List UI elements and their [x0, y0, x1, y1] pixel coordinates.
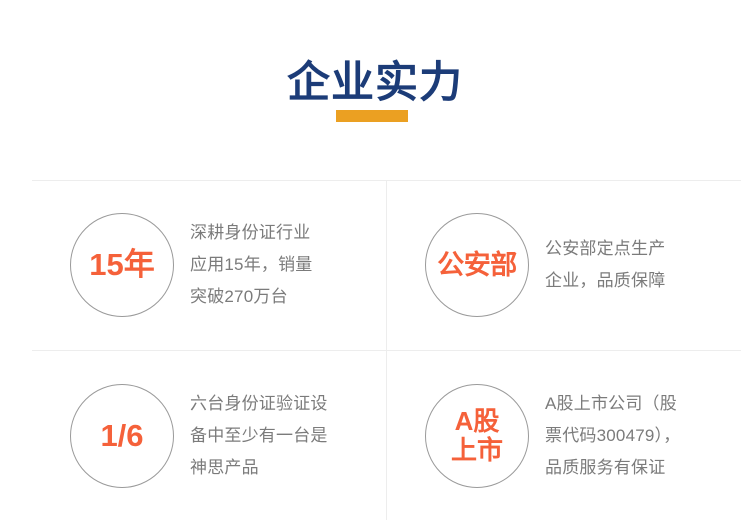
badge-circle-0: 15年 — [70, 213, 174, 317]
strength-grid: 15年 深耕身份证行业 应用15年，销量 突破270万台 公安部 公安部定点生产… — [32, 180, 741, 520]
badge-label-0: 15年 — [89, 249, 154, 282]
strength-card-0: 15年 深耕身份证行业 应用15年，销量 突破270万台 — [32, 180, 386, 350]
page-title-text: 企业实力 — [287, 58, 463, 108]
page-title: 企业实力 — [0, 62, 750, 124]
title-underline-bar — [336, 110, 408, 122]
strength-card-1: 公安部 公安部定点生产 企业，品质保障 — [387, 180, 741, 350]
page-title-inner: 企业实力 — [287, 62, 463, 105]
enterprise-strength-page: { "page": { "title": "企业实力", "title_colo… — [0, 0, 750, 516]
badge-circle-3: A股 上市 — [425, 384, 529, 488]
badge-label-2: 1/6 — [100, 420, 143, 453]
badge-label-3: A股 上市 — [451, 407, 503, 465]
badge-circle-2: 1/6 — [70, 384, 174, 488]
strength-card-2: 1/6 六台身份证验证设 备中至少有一台是 神思产品 — [32, 351, 386, 521]
badge-circle-1: 公安部 — [425, 213, 529, 317]
card-description-2: 六台身份证验证设 备中至少有一台是 神思产品 — [190, 388, 378, 484]
card-description-3: A股上市公司（股 票代码300479）， 品质服务有保证 — [545, 388, 733, 484]
card-description-1: 公安部定点生产 企业，品质保障 — [545, 233, 733, 297]
badge-label-1: 公安部 — [437, 251, 517, 279]
strength-card-3: A股 上市 A股上市公司（股 票代码300479）， 品质服务有保证 — [387, 351, 741, 521]
card-description-0: 深耕身份证行业 应用15年，销量 突破270万台 — [190, 217, 378, 313]
